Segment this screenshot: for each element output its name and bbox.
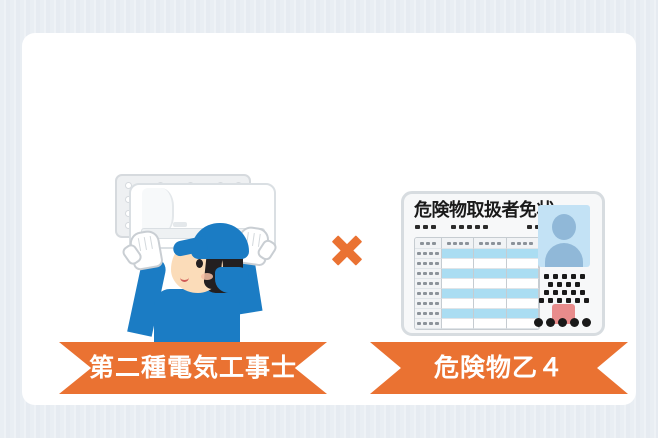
banner-electrician: 第二種電気工事士 [59,342,327,394]
table-data-cell [442,259,474,269]
table-header-cell [442,238,474,249]
table-label-cell [415,259,442,269]
table-data-cell [474,259,506,269]
banner-electrician-label: 第二種電気工事士 [89,356,297,381]
table-data-cell [442,249,474,259]
table-header-cell [507,238,539,249]
x-cross-icon [327,231,367,271]
table-label-cell [415,279,442,289]
table-data-cell [474,289,506,299]
license-card-bottom-dots [534,318,591,327]
page-background: 危険物取扱者免状 [0,0,658,438]
table-header-cell [415,238,442,249]
table-header-cell [474,238,506,249]
table-data-cell [442,319,474,329]
license-card-illustration: 危険物取扱者免状 [401,191,605,336]
table-data-cell [474,269,506,279]
table-data-cell [442,289,474,299]
table-data-cell [474,319,506,329]
license-card-subtext [415,225,556,229]
table-label-cell [415,309,442,319]
table-data-cell [442,309,474,319]
table-data-cell [507,259,539,269]
license-photo [538,205,590,267]
worker-head [167,223,251,303]
content-panel: 危険物取扱者免状 [22,33,636,405]
table-label-cell [415,269,442,279]
table-label-cell [415,289,442,299]
table-data-cell [507,249,539,259]
electrician-illustration [107,161,287,346]
table-data-cell [474,299,506,309]
table-label-cell [415,249,442,259]
license-card-detail-lines [533,274,595,306]
banner-hazardous-materials: 危険物乙４ [370,342,628,394]
table-data-cell [474,309,506,319]
license-card-table [414,237,540,330]
table-data-cell [474,279,506,289]
table-data-cell [474,249,506,259]
table-label-cell [415,299,442,309]
banner-hazardous-materials-label: 危険物乙４ [434,356,564,381]
table-data-cell [442,279,474,289]
table-data-cell [442,299,474,309]
license-card: 危険物取扱者免状 [401,191,605,336]
table-label-cell [415,319,442,329]
table-data-cell [442,269,474,279]
license-card-title: 危険物取扱者免状 [414,201,554,219]
